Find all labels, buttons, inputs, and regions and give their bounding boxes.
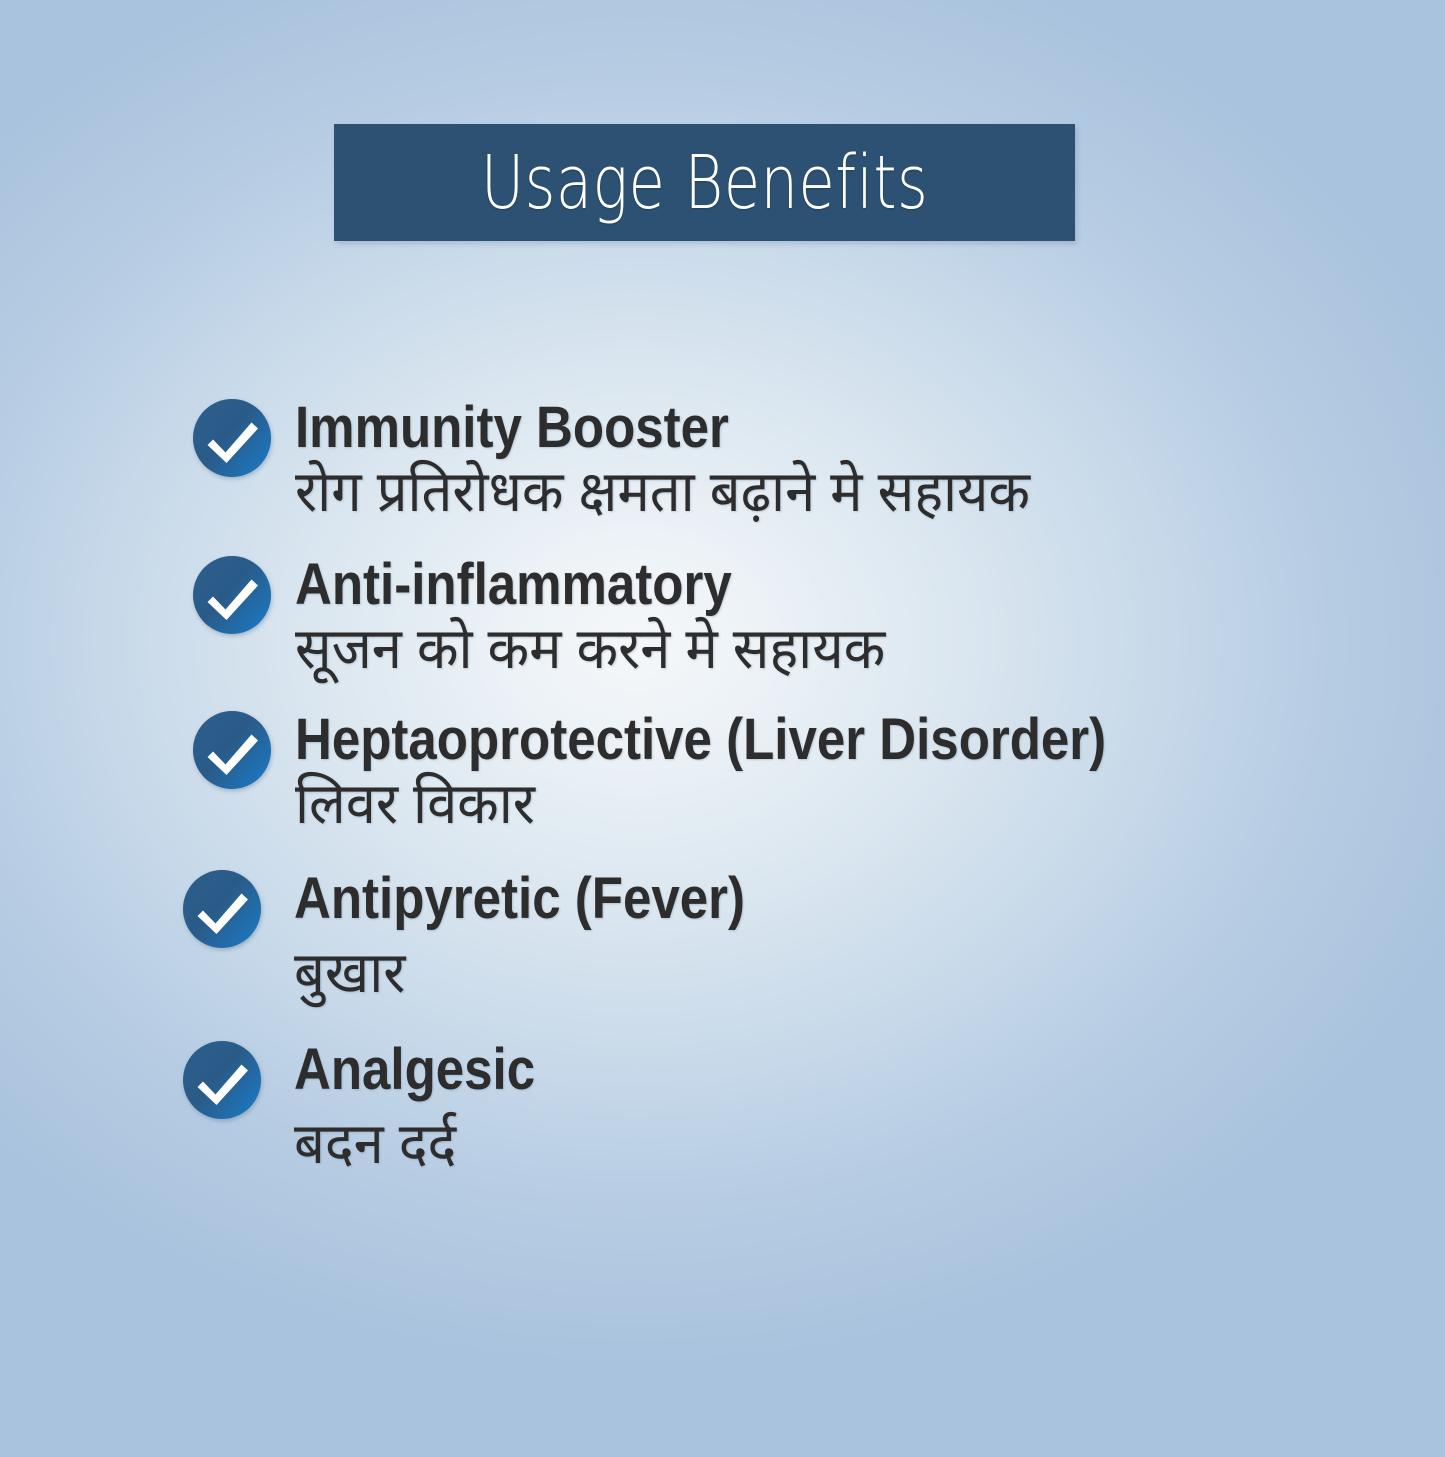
- benefit-label-hi: रोग प्रतिरोधक क्षमता बढ़ाने मे सहायक: [295, 461, 1388, 525]
- check-circle-icon: [192, 555, 272, 635]
- benefit-label-hi: सूजन को कम करने मे सहायक: [295, 618, 1388, 682]
- list-item: Analgesic बदन दर्द: [182, 1040, 1445, 1177]
- benefit-label-hi: लिवर विकार: [295, 773, 1388, 837]
- usage-benefits-poster: Usage Benefits Immun: [0, 0, 1445, 1457]
- benefit-label-hi: बदन दर्द: [294, 1113, 1387, 1177]
- benefit-label-en: Anti-inflammatory: [295, 555, 1307, 614]
- list-item: Heptaoprotective (Liver Disorder) लिवर व…: [192, 710, 1445, 837]
- benefit-label-hi: बुखार: [294, 942, 1387, 1006]
- check-circle-icon: [192, 398, 272, 478]
- check-circle-icon: [182, 1040, 262, 1120]
- list-item: Antipyretic (Fever) बुखार: [182, 869, 1445, 1006]
- check-circle-icon: [182, 869, 262, 949]
- benefit-label-en: Immunity Booster: [295, 398, 1307, 457]
- benefit-text-block: Immunity Booster रोग प्रतिरोधक क्षमता बढ…: [272, 398, 1445, 525]
- benefit-label-en: Heptaoprotective (Liver Disorder): [295, 710, 1307, 769]
- benefits-list: Immunity Booster रोग प्रतिरोधक क्षमता बढ…: [0, 398, 1445, 1177]
- page-title: Usage Benefits: [481, 146, 928, 220]
- benefit-text-block: Antipyretic (Fever) बुखार: [262, 869, 1445, 1006]
- benefit-text-block: Anti-inflammatory सूजन को कम करने मे सहा…: [272, 555, 1445, 682]
- benefit-label-en: Analgesic: [294, 1040, 1307, 1099]
- list-item: Anti-inflammatory सूजन को कम करने मे सहा…: [192, 555, 1445, 682]
- header-banner: Usage Benefits: [334, 124, 1075, 241]
- benefit-text-block: Heptaoprotective (Liver Disorder) लिवर व…: [272, 710, 1445, 837]
- benefit-text-block: Analgesic बदन दर्द: [262, 1040, 1445, 1177]
- benefit-label-en: Antipyretic (Fever): [294, 869, 1307, 928]
- check-circle-icon: [192, 710, 272, 790]
- list-item: Immunity Booster रोग प्रतिरोधक क्षमता बढ…: [192, 398, 1445, 525]
